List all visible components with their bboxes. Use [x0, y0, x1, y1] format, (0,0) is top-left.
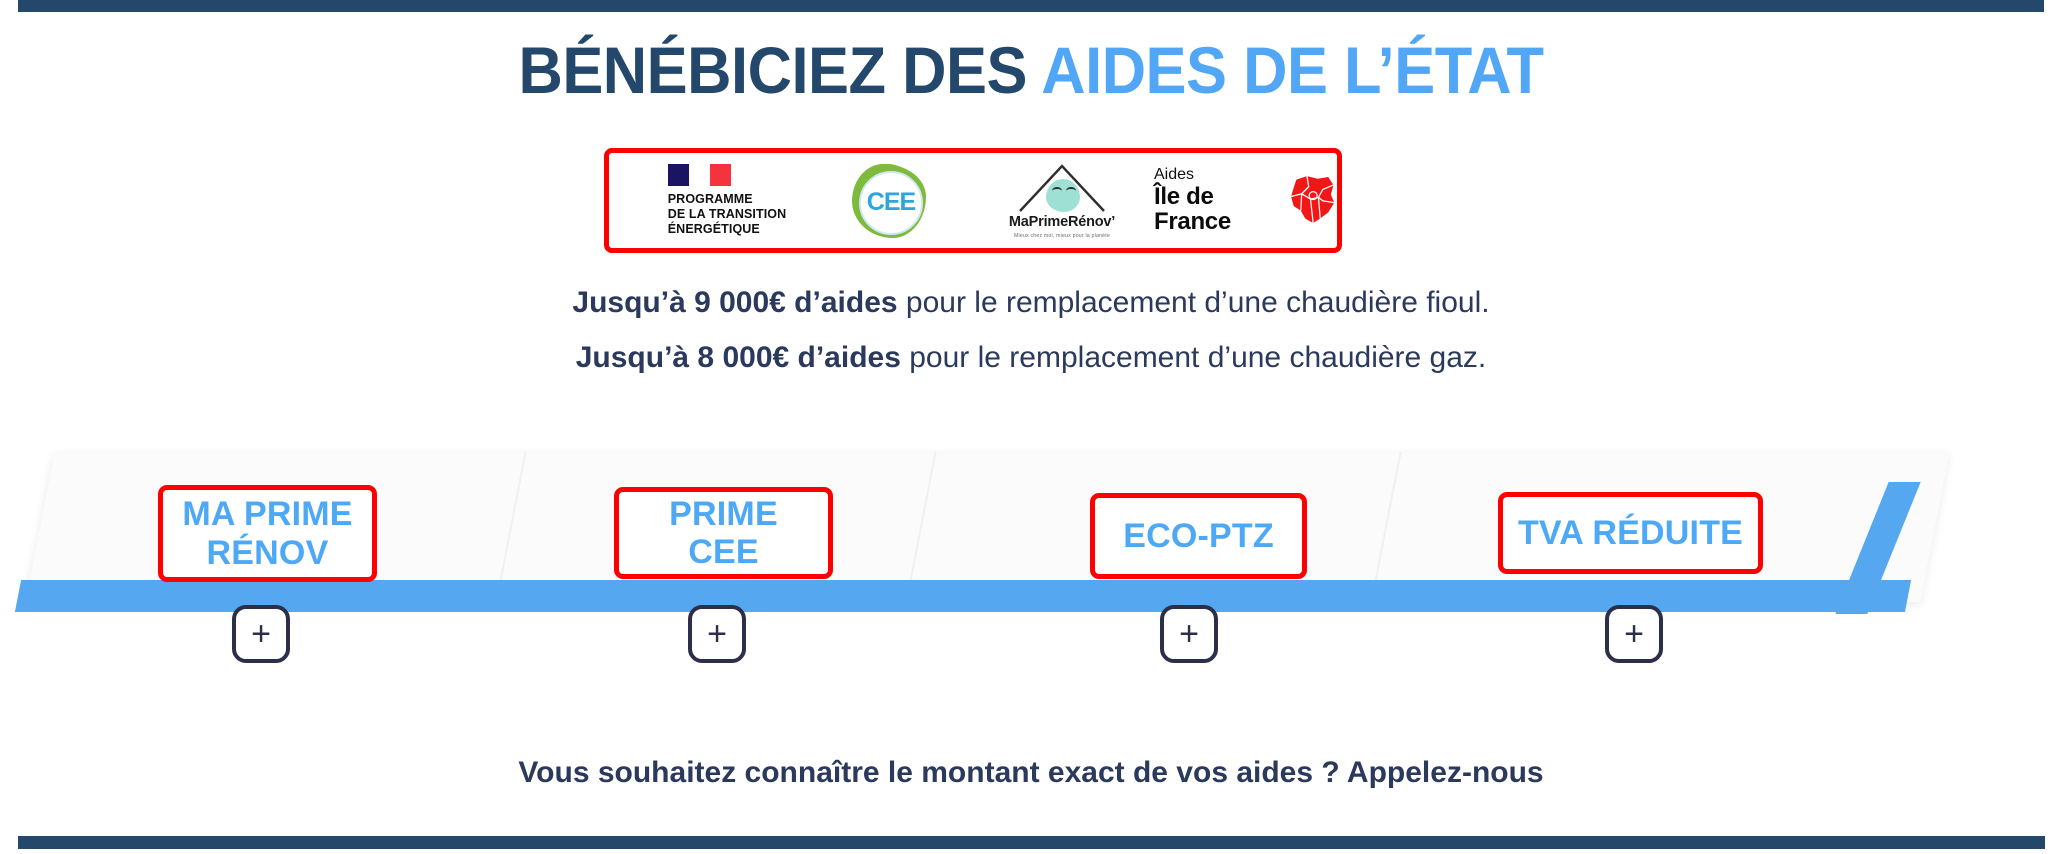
top-divider-bar: [18, 0, 2044, 12]
page-title: BÉNÉBICIEZ DES AIDES DE L’ÉTAT: [72, 37, 1990, 103]
expand-button-ma-prime-renov[interactable]: +: [232, 605, 290, 663]
page-root: BÉNÉBICIEZ DES AIDES DE L’ÉTAT PROGRAMME…: [0, 0, 2062, 854]
idf-big-label: Île de France: [1154, 184, 1280, 234]
idf-small-label: Aides: [1154, 167, 1280, 184]
expand-button-tva-reduite[interactable]: +: [1605, 605, 1663, 663]
aid-amount-fioul: Jusqu’à 9 000€ d’aides: [572, 286, 897, 319]
aid-text-gaz: pour le remplacement d’une chaudière gaz…: [901, 341, 1486, 374]
logo-cee: CEE: [814, 153, 964, 248]
aid-text-fioul: pour le remplacement d’une chaudière fio…: [898, 286, 1490, 319]
aid-amount-line-fioul: Jusqu’à 9 000€ d’aides pour le remplacem…: [0, 286, 2062, 320]
logo-maprimerenov: MaPrimeRénov’ Mieux chez moi, mieux pour…: [967, 153, 1157, 248]
house-roof-icon: [1016, 162, 1108, 212]
partner-logo-band: PROGRAMME DE LA TRANSITION ÉNERGÉTIQUE C…: [604, 148, 1342, 253]
page-title-blue-part: AIDES DE L’ÉTAT: [1041, 33, 1543, 107]
footer-cta-text: Vous souhaitez connaître le montant exac…: [0, 756, 2062, 790]
bottom-divider-bar: [18, 836, 2045, 849]
maprimerenov-name: MaPrimeRénov’: [1009, 215, 1115, 230]
logo-aides-ile-de-france: Aides Île de France: [1154, 153, 1339, 248]
expand-button-eco-ptz[interactable]: +: [1160, 605, 1218, 663]
aid-amount-gaz: Jusqu’à 8 000€ d’aides: [576, 341, 901, 374]
french-flag-icon: [668, 164, 731, 186]
cee-badge-icon: CEE: [852, 164, 926, 238]
pte-line-2: DE LA TRANSITION: [668, 207, 787, 222]
aid-card-eco-ptz[interactable]: ECO-PTZ: [1090, 493, 1307, 579]
ile-de-france-map-icon: [1284, 169, 1339, 231]
logo-programme-transition-energetique: PROGRAMME DE LA TRANSITION ÉNERGÉTIQUE: [619, 153, 819, 248]
aid-card-3-line-1: TVA RÉDUITE: [1518, 514, 1743, 552]
aid-card-prime-cee[interactable]: PRIMECEE: [614, 487, 833, 579]
maprimerenov-tagline: Mieux chez moi, mieux pour la planète: [1009, 233, 1115, 239]
aid-card-0-line-2: RÉNOV: [207, 534, 329, 572]
renov-face-blob-icon: [1046, 179, 1080, 212]
aid-card-tva-reduite[interactable]: TVA RÉDUITE: [1498, 492, 1763, 574]
aid-card-1-line-2: CEE: [688, 533, 759, 571]
pte-line-1: PROGRAMME: [668, 192, 787, 207]
aid-card-1-line-1: PRIME: [669, 495, 778, 533]
aid-amount-line-gaz: Jusqu’à 8 000€ d’aides pour le remplacem…: [0, 341, 2062, 375]
aid-card-0-line-1: MA PRIME: [182, 495, 352, 533]
cee-label: CEE: [867, 190, 915, 215]
aid-card-ma-prime-renov[interactable]: MA PRIMERÉNOV: [158, 485, 377, 582]
renov-eye-right-icon: [1066, 187, 1076, 195]
renov-eye-left-icon: [1052, 187, 1062, 195]
pte-line-3: ÉNERGÉTIQUE: [668, 222, 787, 237]
page-title-dark-part: BÉNÉBICIEZ DES: [518, 33, 1041, 107]
expand-button-prime-cee[interactable]: +: [688, 605, 746, 663]
aid-card-2-line-1: ECO-PTZ: [1123, 517, 1274, 555]
